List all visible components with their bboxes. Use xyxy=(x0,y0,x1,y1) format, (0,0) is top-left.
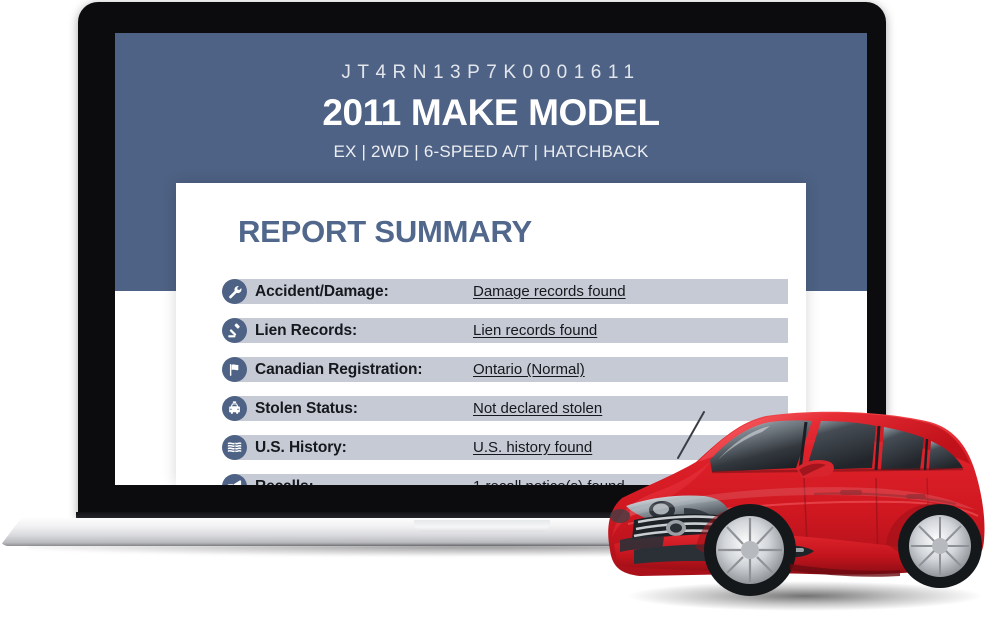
police-car-icon xyxy=(222,396,247,421)
page-title: REPORT SUMMARY xyxy=(176,183,806,247)
row-label: Accident/Damage: xyxy=(255,279,389,304)
wrench-icon xyxy=(222,279,247,304)
row-label: Recalls: xyxy=(255,474,314,485)
list-item[interactable]: Canadian Registration: Ontario (Normal) xyxy=(222,357,788,382)
list-item[interactable]: Lien Records: Lien records found xyxy=(222,318,788,343)
row-value[interactable]: Lien records found xyxy=(473,318,597,343)
row-label: U.S. History: xyxy=(255,435,347,460)
gavel-icon xyxy=(222,318,247,343)
vehicle-trim-subtitle: EX | 2WD | 6-SPEED A/T | HATCHBACK xyxy=(115,133,867,160)
vin-number: JT4RN13P7K0001611 xyxy=(115,33,867,82)
row-label: Lien Records: xyxy=(255,318,357,343)
red-hatchback-car xyxy=(600,398,1000,616)
screenshot-stage: JT4RN13P7K0001611 2011 MAKE MODEL EX | 2… xyxy=(0,0,1005,623)
vehicle-model-title: 2011 MAKE MODEL xyxy=(115,82,867,133)
row-value[interactable]: Ontario (Normal) xyxy=(473,357,585,382)
row-label: Canadian Registration: xyxy=(255,357,422,382)
laptop-front-notch xyxy=(414,520,550,532)
row-value[interactable]: Damage records found xyxy=(473,279,626,304)
row-value[interactable]: 1 recall notice(s) found xyxy=(473,474,625,485)
row-value[interactable]: Not declared stolen xyxy=(473,396,602,421)
row-label: Stolen Status: xyxy=(255,396,358,421)
us-flag-icon xyxy=(222,435,247,460)
flag-icon xyxy=(222,357,247,382)
list-item[interactable]: Accident/Damage: Damage records found xyxy=(222,279,788,304)
row-value[interactable]: U.S. history found xyxy=(473,435,592,460)
